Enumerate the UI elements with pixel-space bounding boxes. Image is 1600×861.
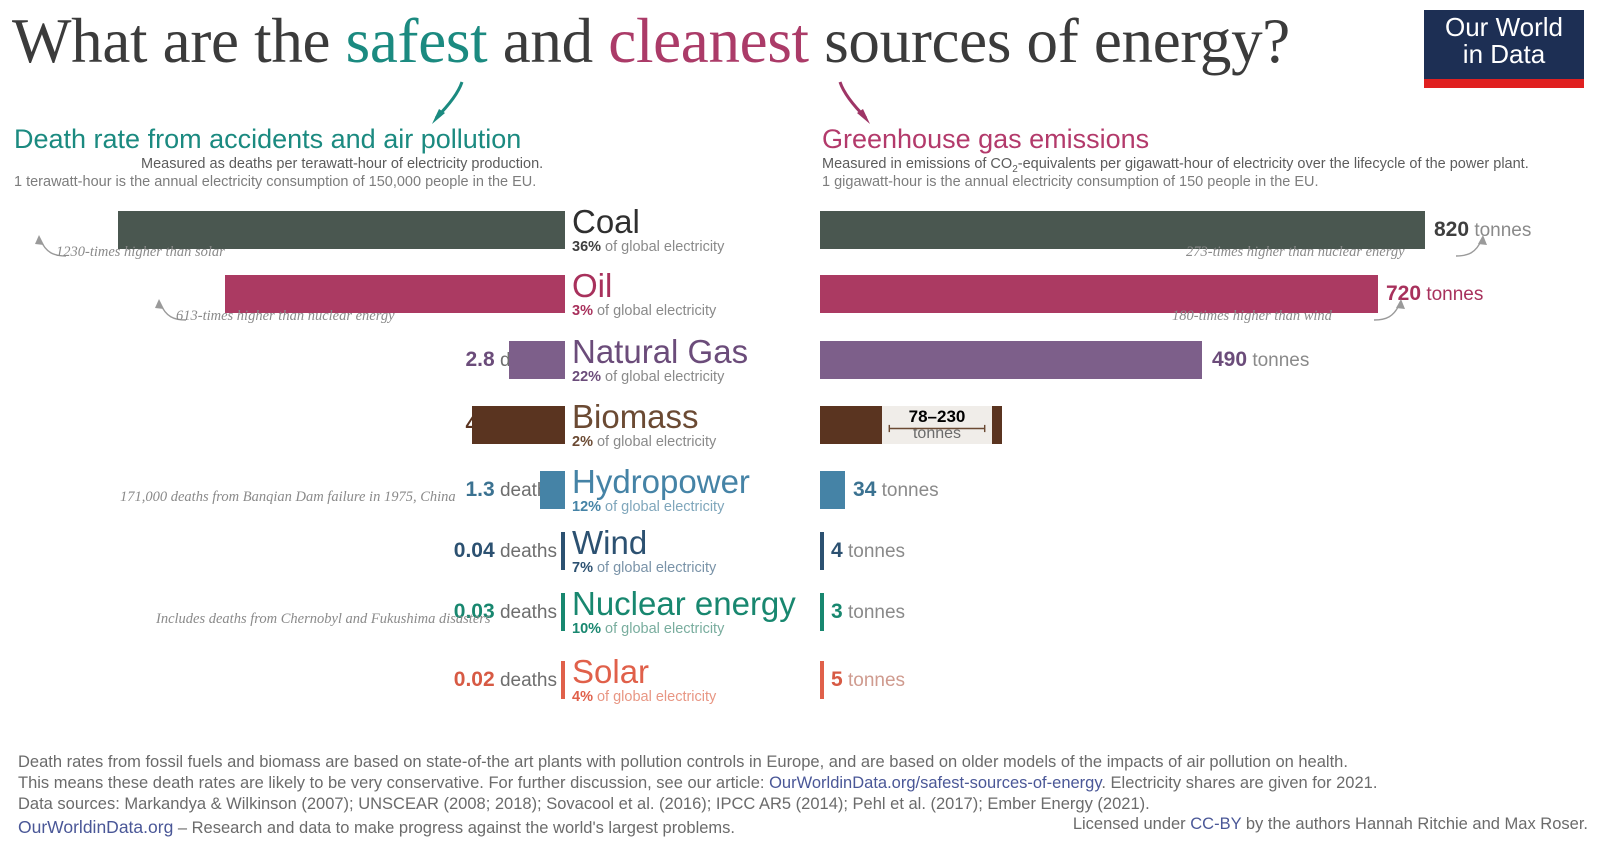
- title-part-1: What are the: [12, 6, 346, 76]
- owid-tagline: – Research and data to make progress aga…: [173, 819, 735, 837]
- oil-ghg-note: 180-times higher than wind: [1172, 308, 1332, 325]
- biomass-ghg-bar-low: [820, 406, 882, 444]
- solar-name: Solar: [572, 655, 716, 688]
- gas-ghg-bar: [820, 341, 1202, 379]
- rp-sub-c: -equivalents per gigawatt-hour of electr…: [1018, 156, 1529, 172]
- chart-row-solar: 0.02 deaths Solar 4% of global electrici…: [0, 648, 1600, 712]
- nuclear-death-note: Includes deaths from Chernobyl and Fukus…: [156, 611, 491, 628]
- footer-line-1: Death rates from fossil fuels and biomas…: [18, 752, 1588, 773]
- wind-name: Wind: [572, 526, 716, 559]
- biomass-range-whisker: [882, 424, 992, 433]
- title-safest: safest: [346, 6, 488, 76]
- biomass-label-block: Biomass 2% of global electricity: [572, 400, 716, 450]
- biomass-death-bar: [472, 406, 565, 444]
- right-panel-subtitle-1: Measured in emissions of CO2-equivalents…: [822, 156, 1529, 175]
- biomass-ghg-range-box: 78–230 tonnes: [882, 406, 992, 444]
- hydro-death-note: 171,000 deaths from Banqian Dam failure …: [120, 489, 456, 506]
- rp-sub-a: Measured in emissions of CO: [822, 156, 1012, 172]
- footer-license: Licensed under CC-BY by the authors Hann…: [1073, 815, 1588, 834]
- wind-ghg-bar: [820, 532, 824, 570]
- wind-label-block: Wind 7% of global electricity: [572, 526, 716, 576]
- nuclear-death-bar: [561, 593, 565, 631]
- solar-death-bar: [561, 661, 565, 699]
- page-title: What are the safest and cleanest sources…: [12, 8, 1290, 74]
- cc-by-link[interactable]: CC-BY: [1190, 815, 1241, 833]
- oil-ghg-note-arrow: [1370, 297, 1414, 323]
- solar-label-block: Solar 4% of global electricity: [572, 655, 716, 705]
- footer-line-2b: . Electricity shares are given for 2021.: [1101, 774, 1377, 792]
- hydro-label-block: Hydropower 12% of global electricity: [572, 465, 750, 515]
- hydro-ghg-value: 34 tonnes: [853, 478, 939, 502]
- nuclear-ghg-value: 3 tonnes: [831, 600, 905, 624]
- gas-label-block: Natural Gas 22% of global electricity: [572, 335, 748, 385]
- left-panel-subtitle-2: 1 terawatt-hour is the annual electricit…: [14, 174, 536, 190]
- gas-share: 22% of global electricity: [572, 369, 748, 385]
- biomass-ghg-bar-high-cap: [992, 406, 1002, 444]
- footer-line-2: This means these death rates are likely …: [18, 773, 1588, 794]
- footer-article-link[interactable]: OurWorldinData.org/safest-sources-of-ene…: [769, 774, 1101, 792]
- footer-line-2a: This means these death rates are likely …: [18, 774, 769, 792]
- biomass-share: 2% of global electricity: [572, 434, 716, 450]
- title-part-2: and: [487, 6, 608, 76]
- oil-label-block: Oil 3% of global electricity: [572, 269, 716, 319]
- gas-ghg-value: 490 tonnes: [1212, 348, 1309, 372]
- solar-share: 4% of global electricity: [572, 689, 716, 705]
- title-cleanest: cleanest: [608, 6, 808, 76]
- gas-name: Natural Gas: [572, 335, 748, 368]
- wind-death-value: 0.04 deaths: [454, 539, 557, 563]
- chart-row-wind: 0.04 deaths Wind 7% of global electricit…: [0, 519, 1600, 583]
- hydro-death-bar: [540, 471, 565, 509]
- license-suffix: by the authors Hannah Ritchie and Max Ro…: [1241, 815, 1588, 833]
- nuclear-name: Nuclear energy: [572, 587, 796, 620]
- nuclear-label-block: Nuclear energy 10% of global electricity: [572, 587, 796, 637]
- infographic-root: What are the safest and cleanest sources…: [0, 0, 1600, 861]
- coal-label-block: Coal 36% of global electricity: [572, 205, 724, 255]
- left-panel-subtitle-1: Measured as deaths per terawatt-hour of …: [141, 156, 543, 172]
- hydro-name: Hydropower: [572, 465, 750, 498]
- coal-death-note: 1230-times higher than solar: [56, 244, 225, 261]
- wind-ghg-value: 4 tonnes: [831, 539, 905, 563]
- coal-name: Coal: [572, 205, 724, 238]
- right-panel-subtitle-2: 1 gigawatt-hour is the annual electricit…: [822, 174, 1319, 190]
- coal-share: 36% of global electricity: [572, 239, 724, 255]
- wind-share: 7% of global electricity: [572, 560, 716, 576]
- nuclear-share: 10% of global electricity: [572, 621, 796, 637]
- owid-logo-line2: in Data: [1424, 41, 1584, 68]
- arrow-to-right-panel: [830, 78, 890, 126]
- owid-logo-line1: Our World: [1424, 14, 1584, 41]
- arrow-to-left-panel: [414, 78, 474, 126]
- hydro-share: 12% of global electricity: [572, 499, 750, 515]
- title-part-3: sources of energy?: [809, 6, 1290, 76]
- license-prefix: Licensed under: [1073, 815, 1190, 833]
- footer-line-3-sources: Data sources: Markandya & Wilkinson (200…: [18, 794, 1588, 815]
- gas-death-bar: [509, 341, 565, 379]
- oil-name: Oil: [572, 269, 716, 302]
- solar-death-value: 0.02 deaths: [454, 668, 557, 692]
- right-panel-title: Greenhouse gas emissions: [822, 124, 1149, 155]
- coal-ghg-note-arrow: [1452, 233, 1496, 259]
- chart-row-biomass: 4.6 deaths Biomass 2% of global electric…: [0, 393, 1600, 457]
- owid-logo[interactable]: Our World in Data: [1424, 10, 1584, 88]
- coal-ghg-note: 273-times higher than nuclear energy: [1186, 244, 1405, 261]
- left-panel-title: Death rate from accidents and air pollut…: [14, 124, 521, 155]
- oil-share: 3% of global electricity: [572, 303, 716, 319]
- biomass-name: Biomass: [572, 400, 716, 433]
- solar-ghg-bar: [820, 661, 824, 699]
- chart-row-natural-gas: 2.8 deaths Natural Gas 22% of global ele…: [0, 328, 1600, 392]
- owid-site-link[interactable]: OurWorldinData.org: [18, 817, 173, 837]
- oil-death-note: 613-times higher than nuclear energy: [176, 308, 395, 325]
- nuclear-ghg-bar: [820, 593, 824, 631]
- solar-ghg-value: 5 tonnes: [831, 668, 905, 692]
- hydro-ghg-bar: [820, 471, 845, 509]
- footer: Death rates from fossil fuels and biomas…: [18, 752, 1588, 839]
- wind-death-bar: [561, 532, 565, 570]
